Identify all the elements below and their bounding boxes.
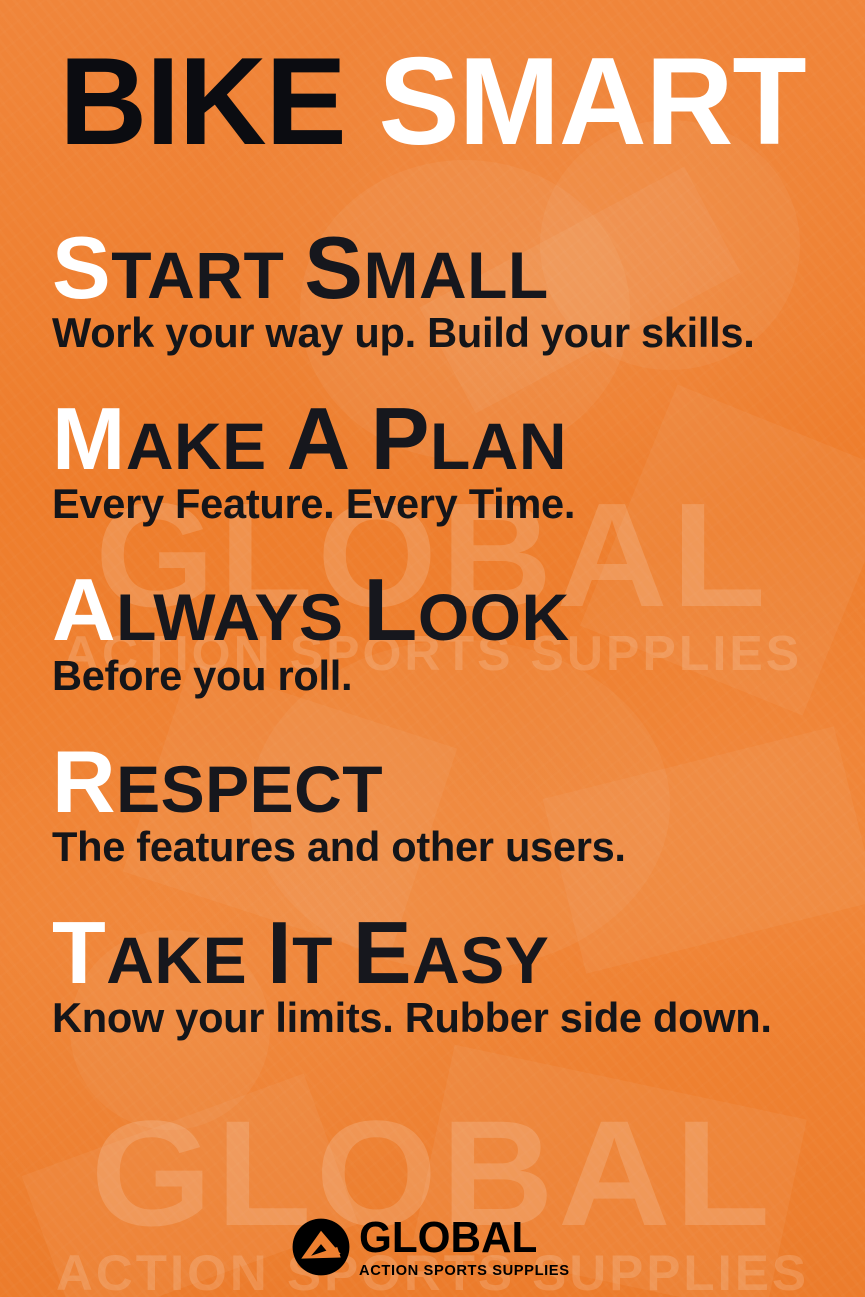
rule-heading-rest: TART — [111, 238, 284, 312]
rule-subtitle: Before you roll. — [52, 652, 834, 700]
mountain-peak-circle-icon — [292, 1218, 350, 1276]
rule-heading-rest: AKE — [126, 409, 267, 483]
rule-heading: MAKEAPLAN — [52, 399, 842, 478]
rule-subtitle: Every Feature. Every Time. — [52, 480, 834, 528]
rule-dropcap: R — [52, 732, 116, 831]
logo-name: GLOBAL — [359, 1216, 565, 1260]
rule-item-always-look: ALWAYSLOOK Before you roll. — [52, 570, 842, 699]
rule-heading-rest: ESPECT — [116, 752, 383, 826]
title-word-smart: SMART — [379, 33, 806, 171]
rule-heading-rest-2: T — [292, 923, 333, 997]
bike-smart-poster: GLOBAL ACTION SPORTS SUPPLIES GLOBAL ACT… — [0, 0, 865, 1297]
rule-subtitle: Know your limits. Rubber side down. — [52, 994, 834, 1042]
brand-logo: GLOBAL ACTION SPORTS SUPPLIES — [0, 1216, 865, 1278]
smart-acronym-list: STARTSMALL Work your way up. Build your … — [52, 228, 842, 1042]
rule-dropcap-2: A — [287, 389, 351, 488]
rule-heading: ALWAYSLOOK — [52, 570, 842, 649]
rule-heading-rest: LWAYS — [116, 580, 343, 654]
logo-text-lockup: GLOBAL ACTION SPORTS SUPPLIES — [359, 1216, 574, 1278]
rule-dropcap-3: P — [371, 389, 430, 488]
rule-dropcap: T — [52, 903, 106, 1002]
rule-dropcap-2: S — [304, 218, 363, 317]
rule-subtitle: The features and other users. — [52, 823, 834, 871]
rule-heading: TAKEITEASY — [52, 913, 842, 992]
rule-dropcap: M — [52, 389, 126, 488]
rule-heading-rest-2: MALL — [363, 238, 548, 312]
rule-dropcap: S — [52, 218, 111, 317]
rule-heading: STARTSMALL — [52, 228, 842, 307]
logo-tagline: ACTION SPORTS SUPPLIES — [359, 1263, 570, 1278]
rule-item-take-it-easy: TAKEITEASY Know your limits. Rubber side… — [52, 913, 842, 1042]
title-space — [346, 33, 379, 171]
title-word-bike: BIKE — [59, 33, 345, 171]
rule-dropcap-2: I — [267, 903, 292, 1002]
rule-subtitle: Work your way up. Build your skills. — [52, 309, 834, 357]
rule-dropcap-3: E — [353, 903, 412, 1002]
rule-item-start-small: STARTSMALL Work your way up. Build your … — [52, 228, 842, 357]
rule-dropcap: A — [52, 560, 116, 659]
rule-heading-rest-3: ASY — [412, 923, 549, 997]
rule-heading: RESPECT — [52, 742, 842, 821]
rule-heading-rest-3: LAN — [430, 409, 567, 483]
rule-item-make-a-plan: MAKEAPLAN Every Feature. Every Time. — [52, 399, 842, 528]
rule-dropcap-2: L — [364, 560, 418, 659]
rule-item-respect: RESPECT The features and other users. — [52, 742, 842, 871]
page-title: BIKE SMART — [9, 40, 857, 164]
rule-heading-rest: AKE — [106, 923, 247, 997]
rule-heading-rest-2: OOK — [418, 580, 570, 654]
